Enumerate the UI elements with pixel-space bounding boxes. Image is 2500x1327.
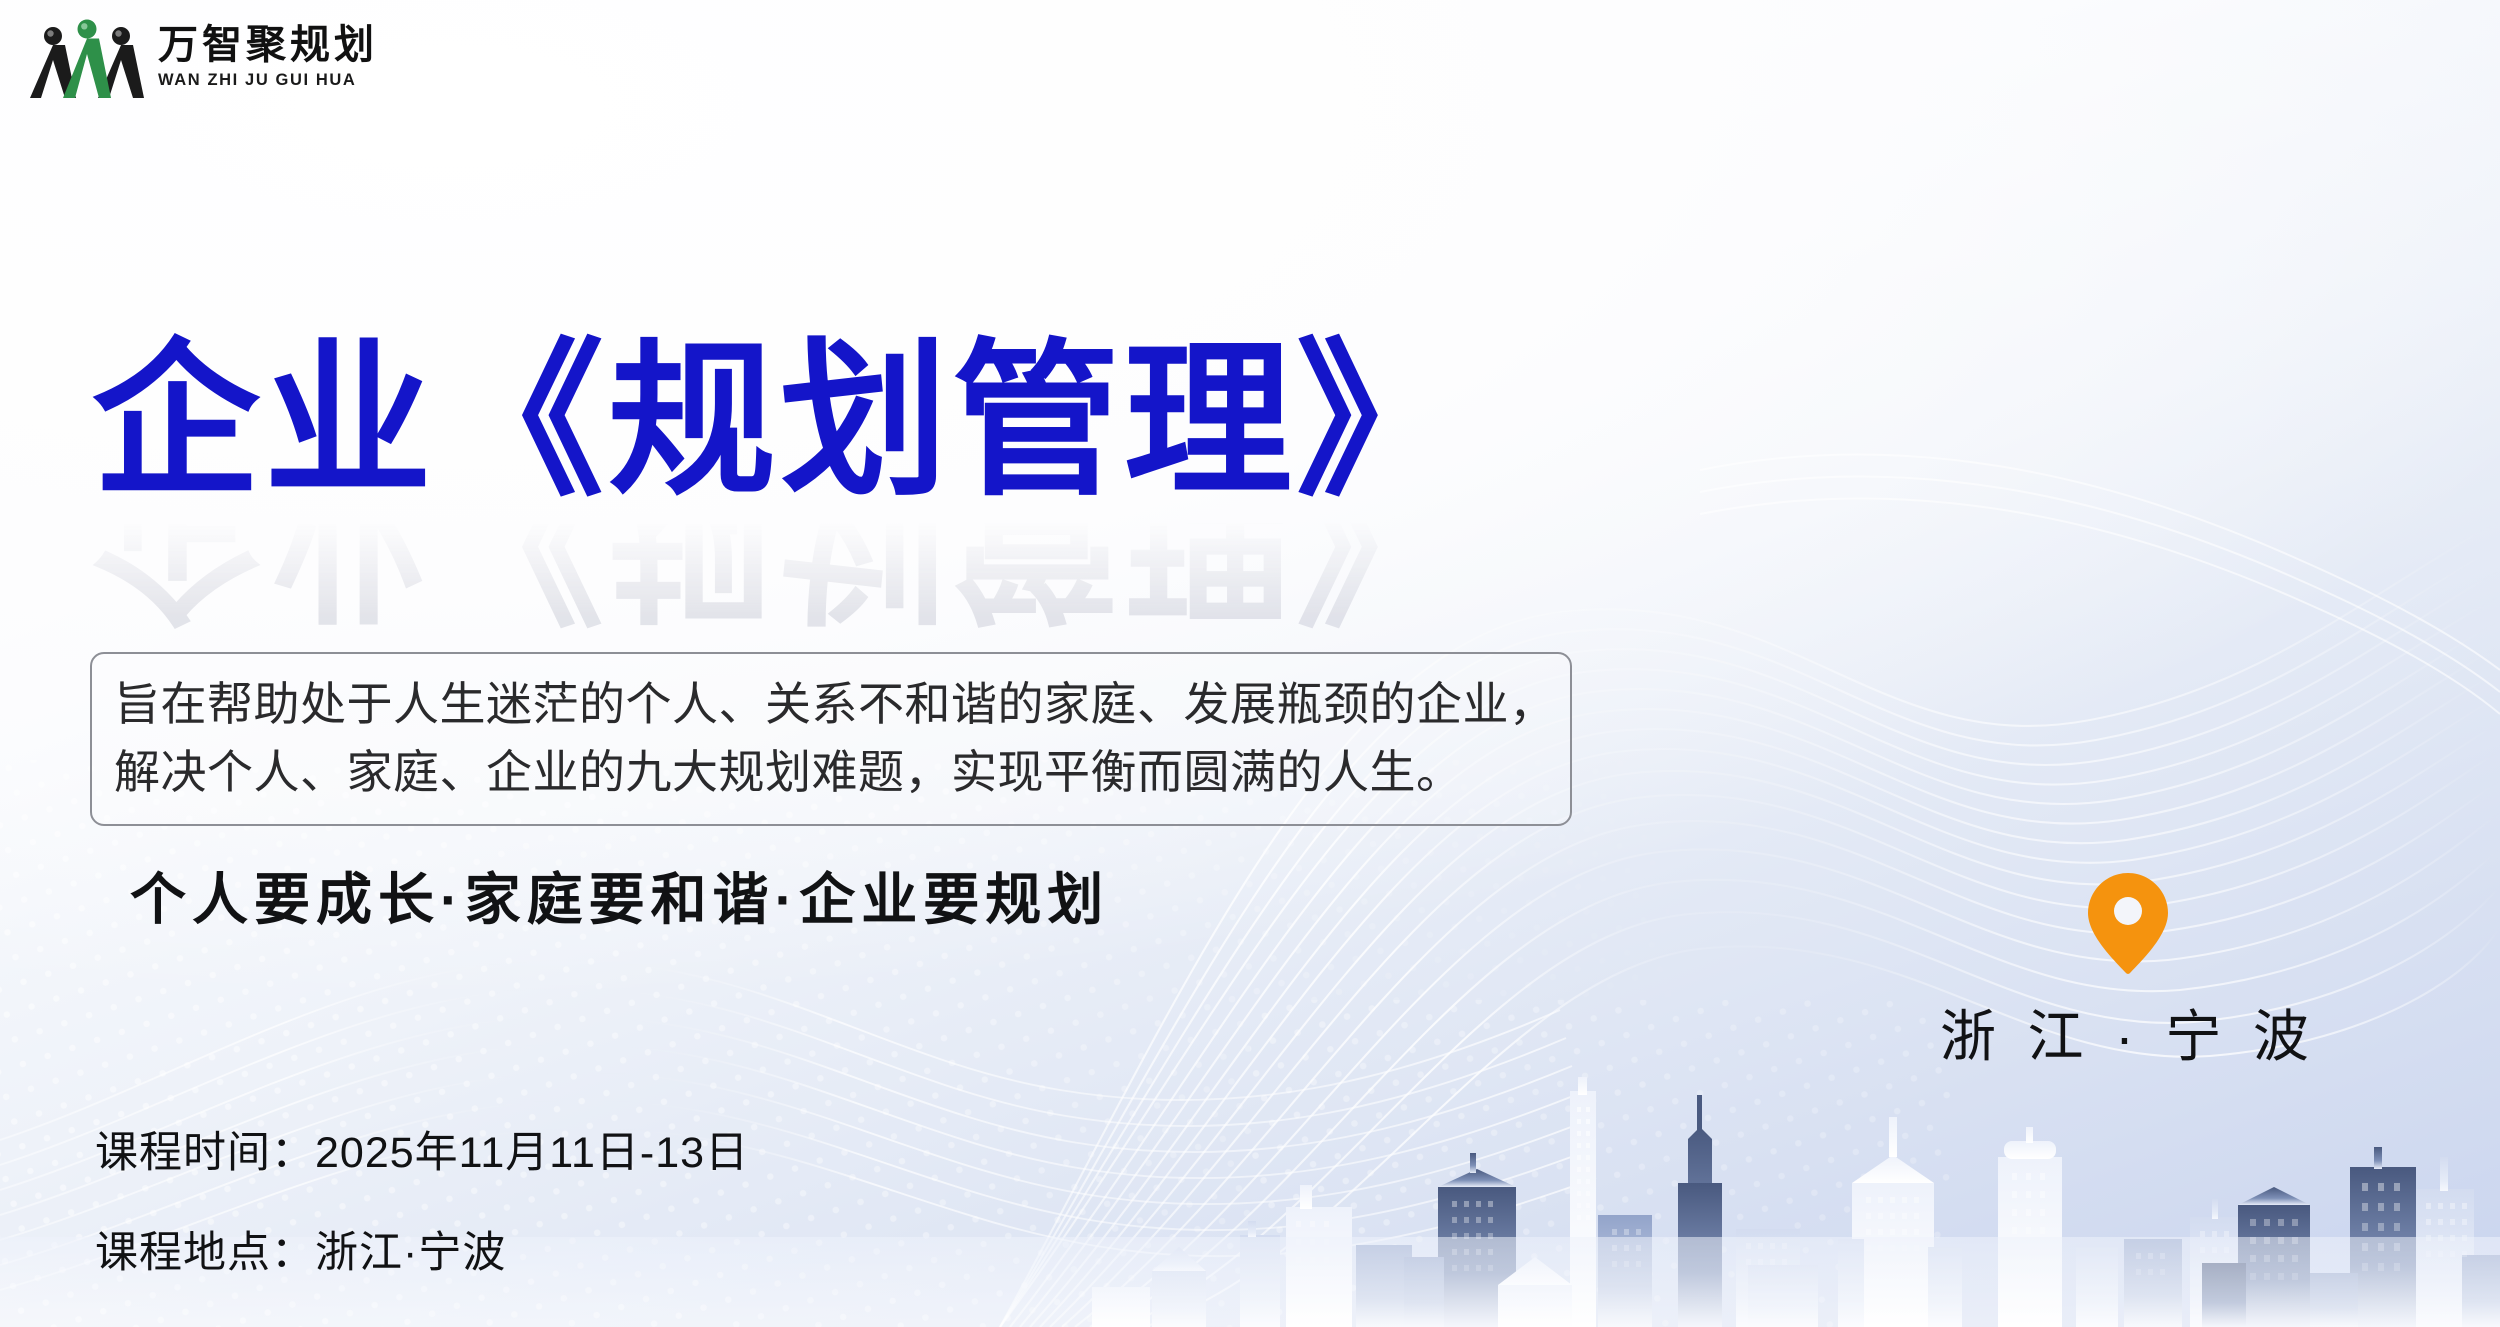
page-title-reflection: 企业《规划管理》 (92, 512, 1652, 630)
location-text: 浙 江 · 宁 波 (1940, 992, 2317, 1073)
brand-logo[interactable]: 万智聚规划 WAN ZHI JU GUI HUA (26, 14, 378, 100)
map-pin-icon (2082, 870, 2174, 976)
description-line-2: 解决个人、家庭、企业的九大规划难题，实现平衡而圆满的人生。 (114, 738, 1548, 806)
course-info-block: 课程时间：2025年11月11日-13日 课程地点：浙江·宁波 (95, 1118, 749, 1280)
brand-name-en: WAN ZHI JU GUI HUA (158, 72, 378, 89)
course-time: 课程时间：2025年11月11日-13日 (95, 1118, 749, 1180)
three-people-logo-icon (26, 14, 148, 100)
hero-title-block: 企业《规划管理》 企业《规划管理》 (92, 332, 1652, 630)
course-place: 课程地点：浙江·宁波 (95, 1218, 749, 1280)
poster-canvas: 万智聚规划 WAN ZHI JU GUI HUA 企业《规划管理》 企业《规划管… (0, 0, 2500, 1327)
page-title: 企业《规划管理》 (92, 332, 1652, 510)
description-box: 旨在帮助处于人生迷茫的个人、关系不和谐的家庭、发展瓶颈的企业， 解决个人、家庭、… (90, 652, 1572, 826)
brand-name-cn: 万智聚规划 (158, 25, 378, 65)
brand-wordmark: 万智聚规划 WAN ZHI JU GUI HUA (158, 25, 378, 89)
description-line-1: 旨在帮助处于人生迷茫的个人、关系不和谐的家庭、发展瓶颈的企业， (114, 670, 1548, 738)
tagline: 个人要成长·家庭要和谐·企业要规划 (130, 855, 1109, 936)
location-badge: 浙 江 · 宁 波 (1940, 870, 2317, 1073)
